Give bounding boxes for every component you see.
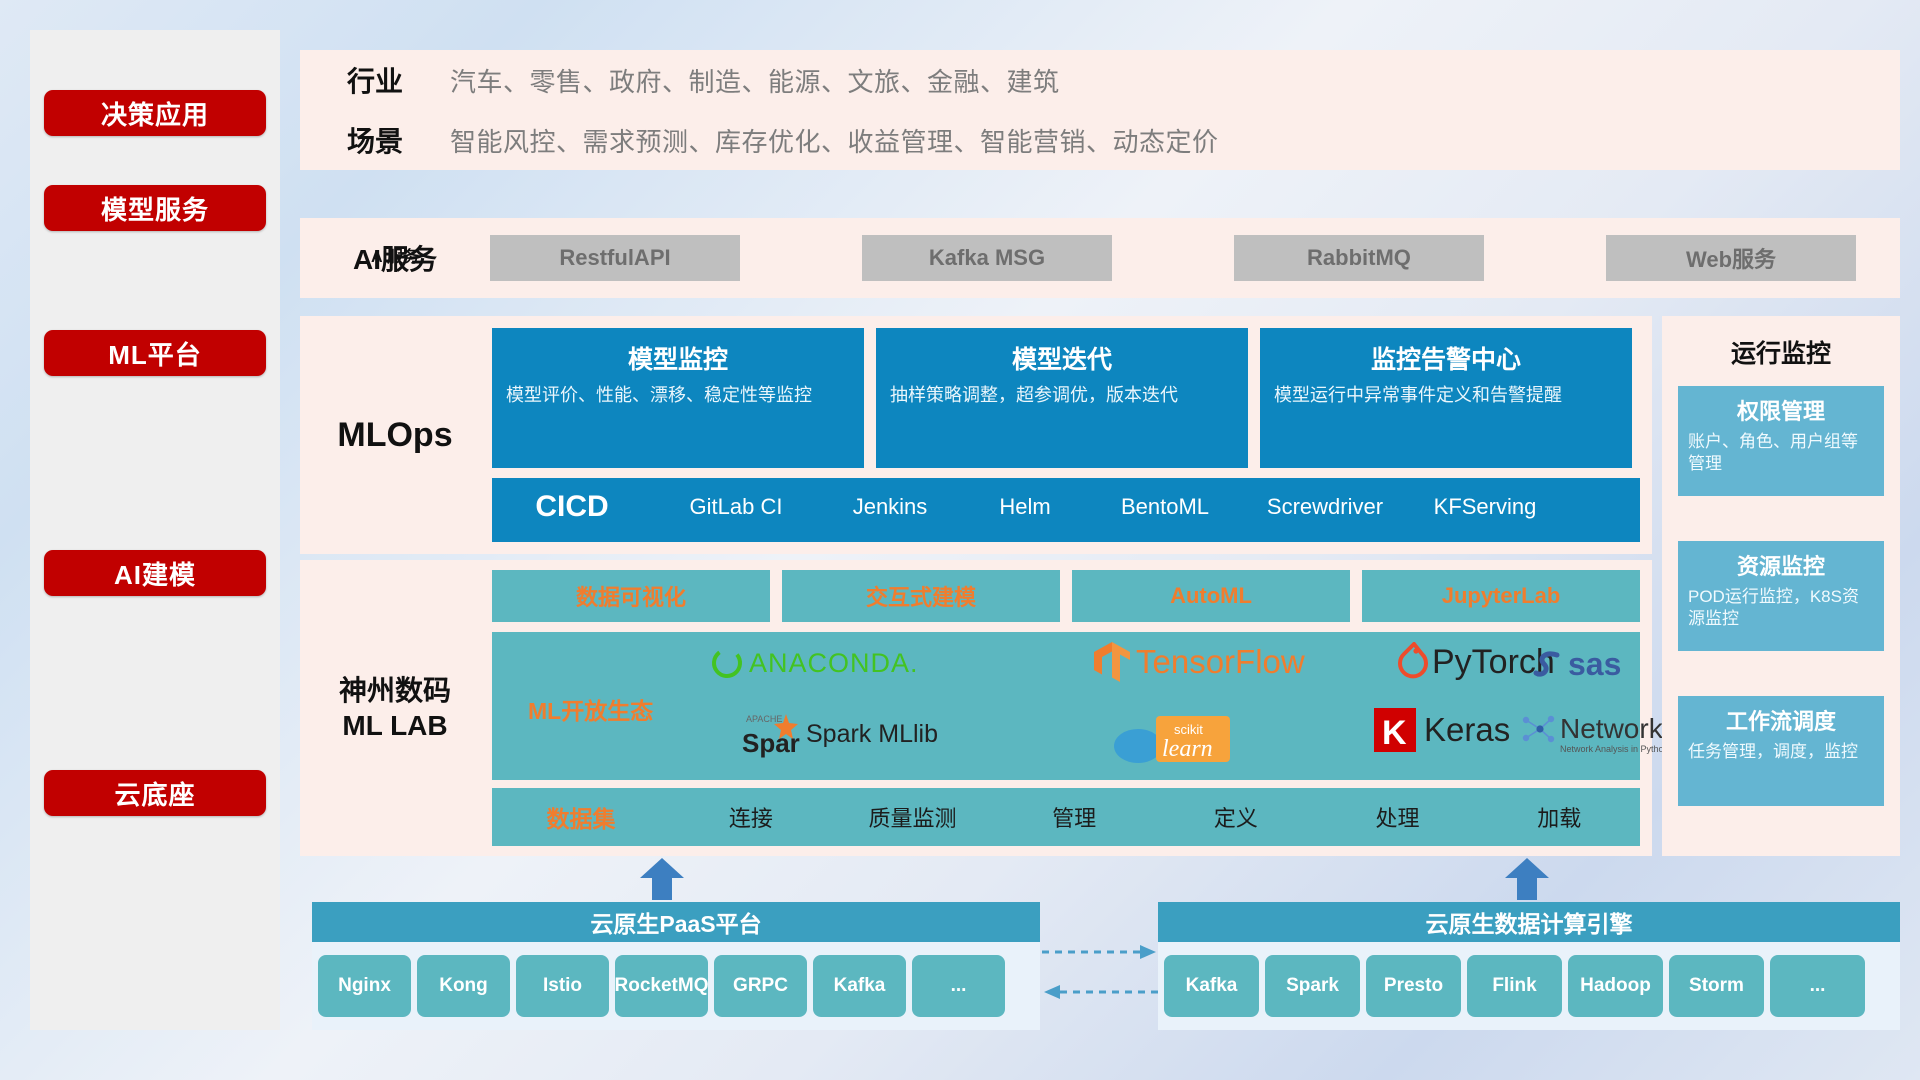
- tool-jupyterlab[interactable]: JupyterLab: [1362, 570, 1640, 622]
- mlops-card-desc: 抽样策略调整，超参调优，版本迭代: [890, 384, 1234, 408]
- bidirectional-dashed-arrows-icon: [1040, 940, 1160, 1010]
- mllab-band: 神州数码 ML LAB 数据可视化 交互式建模 AutoML JupyterLa…: [300, 560, 1652, 856]
- layer-pill-ai-modeling[interactable]: AI建模: [44, 550, 266, 596]
- scikit-learn-logo: scikit learn: [1112, 710, 1252, 766]
- dataset-item-connect[interactable]: 连接: [670, 801, 832, 833]
- ai-service-chip-kafka-msg[interactable]: Kafka MSG: [862, 235, 1112, 281]
- engine-chip-kafka[interactable]: Kafka: [1164, 955, 1259, 1017]
- paas-chip-list: Nginx Kong Istio RocketMQ GRPC Kafka ...: [312, 942, 1040, 1030]
- dataset-item-process[interactable]: 处理: [1317, 801, 1479, 833]
- keras-logo: K Keras: [1372, 706, 1510, 754]
- paas-chip-rocketmq[interactable]: RocketMQ: [615, 955, 708, 1017]
- monitor-card-permission[interactable]: 权限管理 账户、角色、用户组等管理: [1678, 386, 1884, 496]
- dataset-item-load[interactable]: 加载: [1478, 801, 1640, 833]
- mlops-card-model-monitoring[interactable]: 模型监控 模型评价、性能、漂移、稳定性等监控: [492, 328, 864, 468]
- engine-chip-hadoop[interactable]: Hadoop: [1568, 955, 1663, 1017]
- data-engine-block: 云原生数据计算引擎 Kafka Spark Presto Flink Hadoo…: [1158, 902, 1900, 1030]
- cicd-item-helm[interactable]: Helm: [960, 494, 1090, 520]
- dataset-item-quality[interactable]: 质量监测: [832, 801, 994, 833]
- industry-value: 汽车、零售、政府、制造、能源、文旅、金融、建筑: [450, 62, 1060, 99]
- industry-row: 行业 汽车、零售、政府、制造、能源、文旅、金融、建筑: [300, 50, 1900, 110]
- mllib-logo-text: Spark MLlib: [806, 720, 938, 749]
- arrow-up-engine-icon: [1505, 858, 1549, 900]
- monitor-card-title: 工作流调度: [1688, 704, 1874, 736]
- runtime-monitor-title: 运行监控: [1662, 334, 1900, 370]
- layer-pill-decision[interactable]: 决策应用: [44, 90, 266, 136]
- dataset-item-define[interactable]: 定义: [1155, 801, 1317, 833]
- paas-chip-more[interactable]: ...: [912, 955, 1005, 1017]
- runtime-monitor-panel: 运行监控 权限管理 账户、角色、用户组等管理 资源监控 POD运行监控，K8S资…: [1662, 316, 1900, 856]
- ai-service-chip-restfulapi[interactable]: RestfulAPI: [490, 235, 740, 281]
- monitor-card-workflow[interactable]: 工作流调度 任务管理，调度，监控: [1678, 696, 1884, 806]
- dataset-item-manage[interactable]: 管理: [993, 801, 1155, 833]
- mllab-label-line2: ML LAB: [342, 708, 447, 743]
- paas-chip-grpc[interactable]: GRPC: [714, 955, 807, 1017]
- svg-text:APACHE: APACHE: [746, 714, 782, 724]
- cicd-item-kfserving[interactable]: KFServing: [1410, 494, 1560, 520]
- engine-chip-flink[interactable]: Flink: [1467, 955, 1562, 1017]
- scenario-label: 场景: [300, 120, 450, 160]
- paas-chip-istio[interactable]: Istio: [516, 955, 609, 1017]
- svg-text:Spark: Spark: [742, 728, 800, 758]
- paas-chip-nginx[interactable]: Nginx: [318, 955, 411, 1017]
- tensorflow-logo: TensorFlow: [1092, 640, 1305, 684]
- cicd-item-bentoml[interactable]: BentoML: [1090, 494, 1240, 520]
- cicd-item-gitlab-ci[interactable]: GitLab CI: [652, 494, 820, 520]
- mlops-card-model-iteration[interactable]: 模型迭代 抽样策略调整，超参调优，版本迭代: [876, 328, 1248, 468]
- svg-text:K: K: [1382, 714, 1407, 752]
- monitor-card-title: 资源监控: [1688, 549, 1874, 581]
- mlops-card-desc: 模型运行中异常事件定义和告警提醒: [1274, 384, 1618, 408]
- cicd-row: CICD GitLab CI Jenkins Helm BentoML Scre…: [492, 478, 1640, 542]
- mllab-label-line1: 神州数码: [339, 673, 451, 708]
- anaconda-logo: ANACONDA .: [710, 646, 918, 680]
- ai-service-chip-web[interactable]: Web服务: [1606, 235, 1856, 281]
- industry-label: 行业: [300, 60, 450, 100]
- networkx-logo: NetworkX Network Analysis in Python: [1520, 712, 1681, 754]
- keras-logo-text: Keras: [1424, 711, 1510, 749]
- engine-chip-more[interactable]: ...: [1770, 955, 1865, 1017]
- paas-chip-kong[interactable]: Kong: [417, 955, 510, 1017]
- mllab-label: 神州数码 ML LAB: [300, 560, 490, 856]
- engine-chip-presto[interactable]: Presto: [1366, 955, 1461, 1017]
- tensorflow-logo-text: TensorFlow: [1136, 643, 1305, 681]
- sas-logo: sas: [1532, 646, 1621, 683]
- svg-text:learn: learn: [1162, 736, 1213, 762]
- mlops-card-alert-center[interactable]: 监控告警中心 模型运行中异常事件定义和告警提醒: [1260, 328, 1632, 468]
- scenario-row: 场景 智能风控、需求预测、库存优化、收益管理、智能营销、动态定价: [300, 110, 1900, 170]
- architecture-diagram: 决策应用 模型服务 ML平台 AI建模 云底座 行业 汽车、零售、政府、制造、能…: [0, 0, 1920, 1080]
- engine-chip-spark[interactable]: Spark: [1265, 955, 1360, 1017]
- svg-text:scikit: scikit: [1174, 722, 1203, 737]
- monitor-card-desc: POD运行监控，K8S资源监控: [1688, 586, 1874, 630]
- mlops-card-desc: 模型评价、性能、漂移、稳定性等监控: [506, 384, 850, 408]
- mlops-card-title: 模型监控: [506, 340, 850, 376]
- ai-service-chip-rabbitmq[interactable]: RabbitMQ: [1234, 235, 1484, 281]
- ai-service-label-text: AI服务: [300, 218, 490, 298]
- tool-data-visualization[interactable]: 数据可视化: [492, 570, 770, 622]
- sas-logo-text: sas: [1568, 646, 1621, 683]
- data-engine-title: 云原生数据计算引擎: [1158, 902, 1900, 942]
- arrow-up-paas-icon: [640, 858, 684, 900]
- tool-interactive-modeling[interactable]: 交互式建模: [782, 570, 1060, 622]
- pytorch-logo: PyTorch: [1392, 642, 1555, 682]
- cicd-item-screwdriver[interactable]: Screwdriver: [1240, 494, 1410, 520]
- engine-chip-storm[interactable]: Storm: [1669, 955, 1764, 1017]
- tool-automl[interactable]: AutoML: [1072, 570, 1350, 622]
- layer-rail: 决策应用 模型服务 ML平台 AI建模 云底座: [30, 30, 280, 1030]
- mlops-band: MLOps 模型监控 模型评价、性能、漂移、稳定性等监控 模型迭代 抽样策略调整…: [300, 316, 1652, 554]
- engine-chip-list: Kafka Spark Presto Flink Hadoop Storm ..…: [1158, 942, 1900, 1030]
- monitor-card-resource[interactable]: 资源监控 POD运行监控，K8S资源监控: [1678, 541, 1884, 651]
- ml-ecosystem-panel: ML开放生态 ANACONDA . TensorFlow: [492, 632, 1640, 780]
- paas-platform-block: 云原生PaaS平台 Nginx Kong Istio RocketMQ GRPC…: [312, 902, 1040, 1030]
- paas-platform-title: 云原生PaaS平台: [312, 902, 1040, 942]
- monitor-card-title: 权限管理: [1688, 394, 1874, 426]
- cicd-label: CICD: [492, 478, 652, 524]
- mlops-card-title: 监控告警中心: [1274, 340, 1618, 376]
- dataset-label: 数据集: [492, 800, 670, 834]
- mlops-card-title: 模型迭代: [890, 340, 1234, 376]
- anaconda-logo-text: ANACONDA: [749, 648, 910, 679]
- mlops-label: MLOps: [300, 316, 490, 554]
- monitor-card-desc: 任务管理，调度，监控: [1688, 741, 1874, 763]
- ml-ecosystem-label: ML开放生态: [528, 692, 653, 726]
- monitor-card-desc: 账户、角色、用户组等管理: [1688, 431, 1874, 475]
- layer-pill-model-service[interactable]: 模型服务: [44, 185, 266, 231]
- scenario-value: 智能风控、需求预测、库存优化、收益管理、智能营销、动态定价: [450, 122, 1219, 159]
- cicd-item-jenkins[interactable]: Jenkins: [820, 494, 960, 520]
- layer-pill-cloud-base[interactable]: 云底座: [44, 770, 266, 816]
- ai-service-band: AI服务 RestfulAPI Kafka MSG RabbitMQ Web服务: [300, 218, 1900, 298]
- layer-pill-ml-platform[interactable]: ML平台: [44, 330, 266, 376]
- decision-band: 行业 汽车、零售、政府、制造、能源、文旅、金融、建筑 场景 智能风控、需求预测、…: [300, 50, 1900, 170]
- paas-chip-kafka[interactable]: Kafka: [813, 955, 906, 1017]
- dataset-row: 数据集 连接 质量监测 管理 定义 处理 加载: [492, 788, 1640, 846]
- spark-mllib-logo: APACHE Spark Spark MLlib: [742, 708, 938, 760]
